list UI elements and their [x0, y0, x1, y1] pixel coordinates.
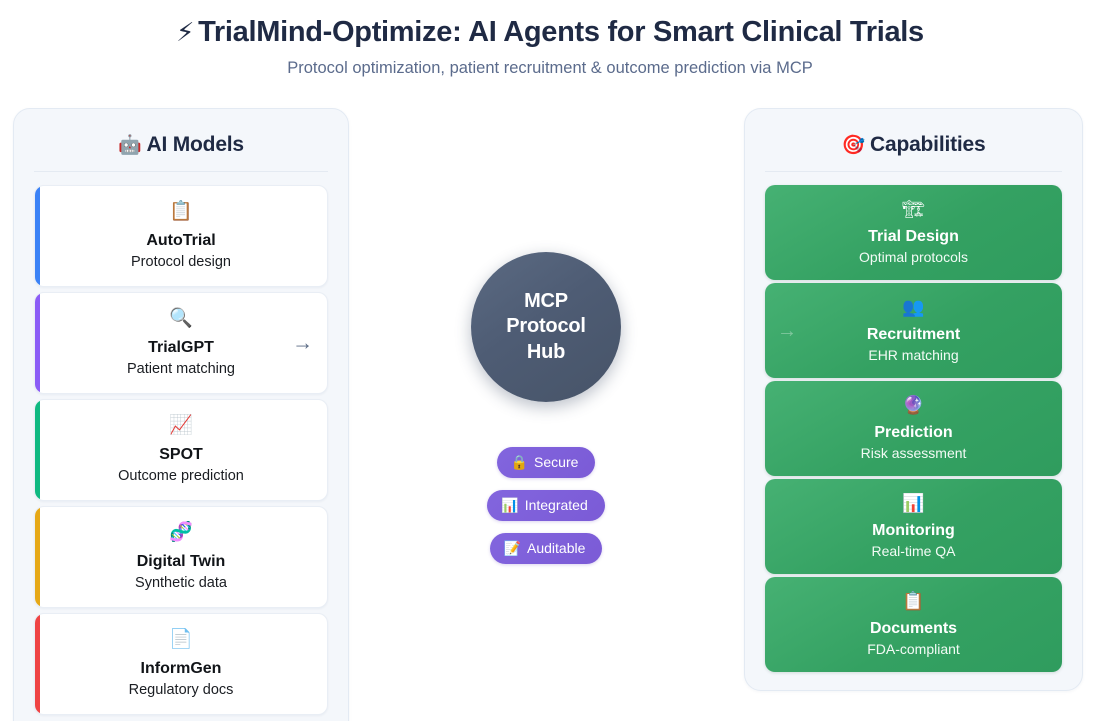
people-icon: 👥	[765, 283, 1062, 316]
capability-description: Real-time QA	[765, 543, 1062, 559]
model-card-informgen[interactable]: 📄 InformGen Regulatory docs	[34, 613, 328, 715]
capabilities-panel-title: 🎯Capabilities	[745, 109, 1082, 157]
badge-label: Integrated	[525, 497, 588, 513]
model-card-autotrial[interactable]: 📋 AutoTrial Protocol design	[34, 185, 328, 287]
ai-models-title-text: AI Models	[147, 133, 244, 156]
ai-models-panel: 🤖AI Models 📋 AutoTrial Protocol design 🔍…	[13, 108, 349, 721]
badge-integrated[interactable]: 📊 Integrated	[487, 490, 605, 521]
flow-arrow-right-icon: →	[777, 321, 797, 341]
capability-description: Risk assessment	[765, 445, 1062, 461]
ai-models-panel-title: 🤖AI Models	[14, 109, 348, 157]
page-subtitle: Protocol optimization, patient recruitme…	[0, 59, 1100, 78]
model-accent-bar	[35, 614, 40, 714]
capability-card-documents[interactable]: 📋 Documents FDA-compliant	[765, 577, 1062, 672]
badge-list: 🔒 Secure 📊 Integrated 📝 Auditable	[471, 447, 621, 564]
badge-auditable[interactable]: 📝 Auditable	[490, 533, 603, 564]
mcp-protocol-hub[interactable]: MCP Protocol Hub	[471, 252, 621, 402]
capability-card-recruitment[interactable]: → 👥 Recruitment EHR matching	[765, 283, 1062, 378]
capability-card-monitoring[interactable]: 📊 Monitoring Real-time QA	[765, 479, 1062, 574]
bar-chart-icon: 📊	[501, 498, 518, 512]
crane-icon: 🏗	[765, 185, 1062, 218]
badge-label: Auditable	[527, 540, 585, 556]
model-description: Protocol design	[35, 254, 327, 270]
capability-description: Optimal protocols	[765, 249, 1062, 265]
magnifier-icon: 🔍	[35, 293, 327, 328]
capability-name: Recruitment	[765, 326, 1062, 344]
robot-icon: 🤖	[118, 135, 141, 156]
capabilities-panel: 🎯Capabilities 🏗 Trial Design Optimal pro…	[744, 108, 1083, 691]
memo-icon: 📝	[504, 541, 521, 555]
lock-icon: 🔒	[511, 455, 528, 469]
badge-label: Secure	[534, 454, 578, 470]
model-accent-bar	[35, 507, 40, 607]
capability-card-trial-design[interactable]: 🏗 Trial Design Optimal protocols	[765, 185, 1062, 280]
badge-secure[interactable]: 🔒 Secure	[497, 447, 596, 478]
flow-arrow-right-icon: →	[292, 333, 313, 354]
model-name: AutoTrial	[35, 232, 327, 250]
model-card-trialgpt[interactable]: 🔍 TrialGPT Patient matching →	[34, 292, 328, 394]
page-title-text: TrialMind-Optimize: AI Agents for Smart …	[198, 16, 924, 48]
dna-icon: 🧬	[35, 507, 327, 542]
model-description: Patient matching	[35, 361, 327, 377]
page-root: ⚡TrialMind-Optimize: AI Agents for Smart…	[0, 0, 1100, 721]
bar-chart-icon: 📊	[765, 479, 1062, 512]
clipboard-icon: 📋	[35, 186, 327, 221]
model-accent-bar	[35, 186, 40, 286]
capability-card-prediction[interactable]: 🔮 Prediction Risk assessment	[765, 381, 1062, 476]
mcp-hub-label: MCP Protocol Hub	[506, 289, 586, 366]
model-accent-bar	[35, 400, 40, 500]
model-accent-bar	[35, 293, 40, 393]
model-card-digital-twin[interactable]: 🧬 Digital Twin Synthetic data	[34, 506, 328, 608]
capabilities-title-text: Capabilities	[870, 133, 985, 156]
capability-description: FDA-compliant	[765, 641, 1062, 657]
model-description: Regulatory docs	[35, 682, 327, 698]
capabilities-list: 🏗 Trial Design Optimal protocols → 👥 Rec…	[745, 172, 1082, 691]
page-title: ⚡TrialMind-Optimize: AI Agents for Smart…	[0, 14, 1100, 50]
model-name: InformGen	[35, 660, 327, 678]
target-icon: 🎯	[842, 135, 865, 156]
hub-line-3: Hub	[527, 341, 565, 363]
model-name: TrialGPT	[35, 339, 327, 357]
capability-name: Trial Design	[765, 228, 1062, 246]
clipboard-icon: 📋	[765, 577, 1062, 610]
document-icon: 📄	[35, 614, 327, 649]
hub-line-2: Protocol	[506, 315, 586, 337]
crystal-ball-icon: 🔮	[765, 381, 1062, 414]
model-card-spot[interactable]: 📈 SPOT Outcome prediction	[34, 399, 328, 501]
page-header: ⚡TrialMind-Optimize: AI Agents for Smart…	[0, 0, 1100, 78]
hub-line-1: MCP	[524, 290, 568, 312]
capability-description: EHR matching	[765, 347, 1062, 363]
capability-name: Prediction	[765, 424, 1062, 442]
model-description: Synthetic data	[35, 575, 327, 591]
model-description: Outcome prediction	[35, 468, 327, 484]
chart-increasing-icon: 📈	[35, 400, 327, 435]
model-name: Digital Twin	[35, 553, 327, 571]
model-name: SPOT	[35, 446, 327, 464]
ai-models-list: 📋 AutoTrial Protocol design 🔍 TrialGPT P…	[14, 172, 348, 721]
capability-name: Documents	[765, 620, 1062, 638]
lightning-bolt-icon: ⚡	[176, 17, 194, 47]
capability-name: Monitoring	[765, 522, 1062, 540]
